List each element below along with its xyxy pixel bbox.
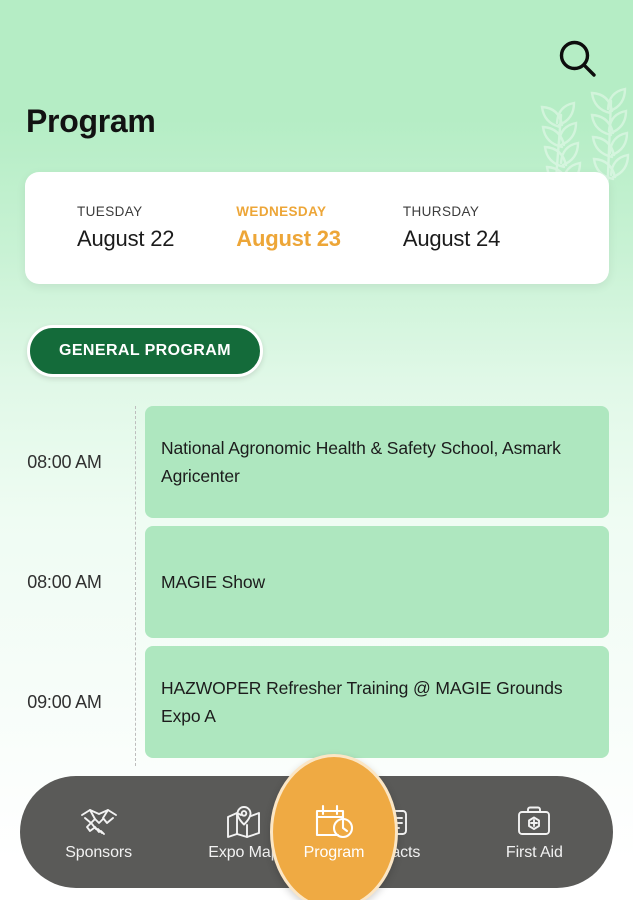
event-time: 08:00 AM — [0, 572, 135, 593]
page-title: Program — [26, 103, 156, 140]
app-screen: Program TUESDAY August 22 WEDNESDAY Augu… — [0, 0, 633, 900]
schedule-list: 08:00 AM National Agronomic Health & Saf… — [0, 406, 633, 786]
day-tab-tuesday[interactable]: TUESDAY August 22 — [77, 204, 174, 252]
day-date-label: August 22 — [77, 226, 174, 252]
event-title: MAGIE Show — [161, 568, 265, 596]
nav-label: Expo Map — [208, 844, 279, 862]
nav-label: Program — [304, 844, 365, 862]
nav-item-first-aid[interactable]: First Aid — [482, 776, 586, 888]
event-title: HAZWOPER Refresher Training @ MAGIE Grou… — [161, 674, 593, 730]
first-aid-kit-icon — [515, 802, 553, 842]
event-time: 09:00 AM — [0, 692, 135, 713]
day-weekday-label: THURSDAY — [403, 204, 500, 219]
day-weekday-label: TUESDAY — [77, 204, 174, 219]
event-card[interactable]: National Agronomic Health & Safety Schoo… — [145, 406, 609, 518]
handshake-icon — [79, 802, 119, 842]
schedule-row: 09:00 AM HAZWOPER Refresher Training @ M… — [0, 646, 633, 758]
general-program-filter-button[interactable]: GENERAL PROGRAM — [27, 325, 263, 377]
event-card[interactable]: MAGIE Show — [145, 526, 609, 638]
search-icon — [556, 37, 600, 81]
search-button[interactable] — [551, 32, 605, 86]
nav-label: First Aid — [506, 844, 563, 862]
day-tab-wednesday[interactable]: WEDNESDAY August 23 — [236, 204, 341, 252]
calendar-clock-icon — [312, 802, 356, 842]
day-weekday-label: WEDNESDAY — [236, 204, 341, 219]
map-pin-icon — [225, 802, 263, 842]
schedule-row: 08:00 AM MAGIE Show — [0, 526, 633, 638]
day-date-label: August 24 — [403, 226, 500, 252]
day-date-label: August 23 — [236, 226, 341, 252]
nav-item-sponsors[interactable]: Sponsors — [47, 776, 151, 888]
event-card[interactable]: HAZWOPER Refresher Training @ MAGIE Grou… — [145, 646, 609, 758]
bottom-navigation-bar: Sponsors Expo Map — [20, 776, 613, 888]
day-tab-thursday[interactable]: THURSDAY August 24 — [403, 204, 500, 252]
nav-label: Sponsors — [65, 844, 132, 862]
nav-item-program[interactable]: Program — [270, 754, 398, 900]
event-time: 08:00 AM — [0, 452, 135, 473]
day-selector: TUESDAY August 22 WEDNESDAY August 23 TH… — [25, 172, 609, 284]
schedule-row: 08:00 AM National Agronomic Health & Saf… — [0, 406, 633, 518]
event-title: National Agronomic Health & Safety Schoo… — [161, 434, 593, 490]
